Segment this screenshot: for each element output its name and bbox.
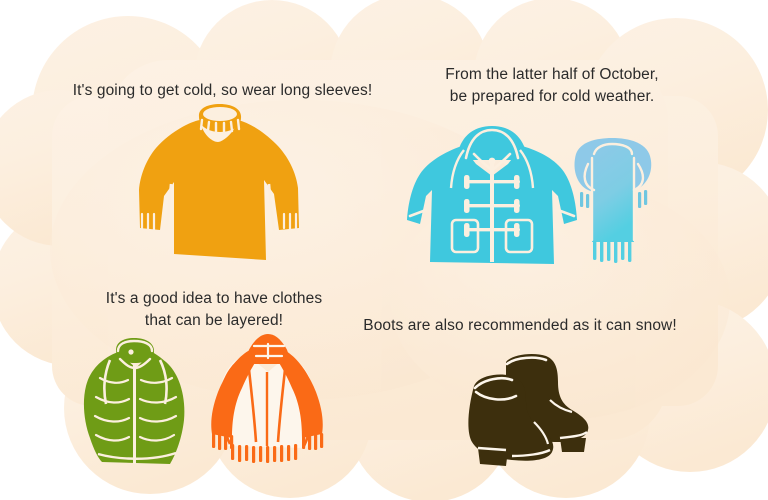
illustration-canvas: It's going to get cold, so wear long sle…: [0, 0, 768, 500]
caption-coat: From the latter half of October, be prep…: [404, 64, 700, 109]
caption-sweater: It's going to get cold, so wear long sle…: [40, 80, 405, 102]
boots-illustration: [450, 352, 596, 470]
caption-layering: It's a good idea to have clothes that ca…: [78, 288, 350, 333]
duffle-coat-illustration: [404, 124, 580, 270]
puffer-vest-illustration: [78, 334, 194, 468]
jacket-with-scarf-illustration: [198, 330, 334, 464]
scarf-illustration: [566, 136, 658, 266]
caption-boots: Boots are also recommended as it can sno…: [340, 315, 700, 337]
sweater-illustration: [138, 104, 302, 266]
